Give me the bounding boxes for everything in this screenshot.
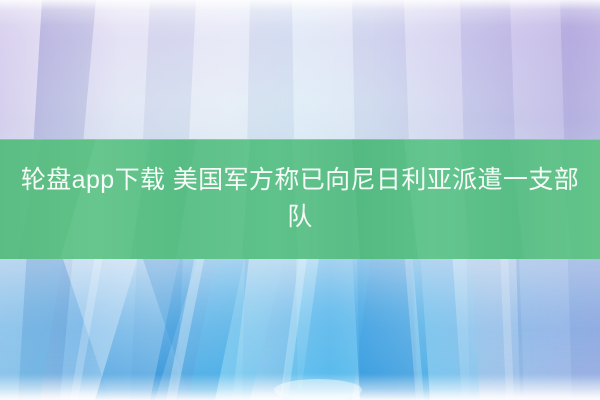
headline-text: 轮盘app下载 美国军方称已向尼日利亚派遣一支部队 <box>20 162 580 236</box>
image-canvas: 轮盘app下载 美国军方称已向尼日利亚派遣一支部队 <box>0 0 600 400</box>
headline-banner: 轮盘app下载 美国军方称已向尼日利亚派遣一支部队 <box>0 139 600 259</box>
